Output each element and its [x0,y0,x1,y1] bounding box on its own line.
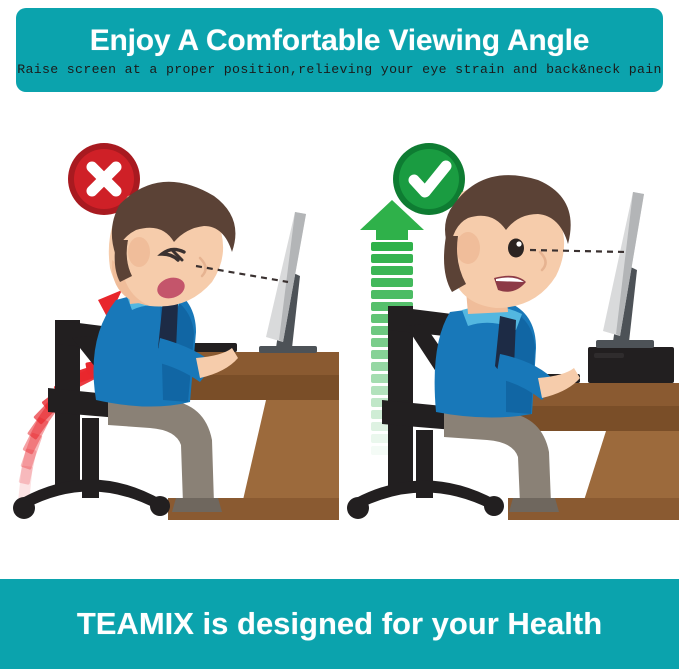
monitor-raised [596,192,654,348]
monitor-riser [588,347,674,383]
person-correct-posture [435,175,580,512]
footer-title: TEAMIX is designed for your Health [77,606,602,642]
header-banner: Enjoy A Comfortable Viewing Angle Raise … [16,8,663,92]
header-subtitle: Raise screen at a proper position,reliev… [17,62,662,77]
header-title: Enjoy A Comfortable Viewing Angle [90,25,590,57]
product-infographic: Enjoy A Comfortable Viewing Angle Raise … [0,0,679,669]
footer-banner: TEAMIX is designed for your Health [0,579,679,669]
monitor-low [259,212,317,353]
correct-posture-panel [340,100,679,570]
incorrect-posture-panel [0,100,339,570]
